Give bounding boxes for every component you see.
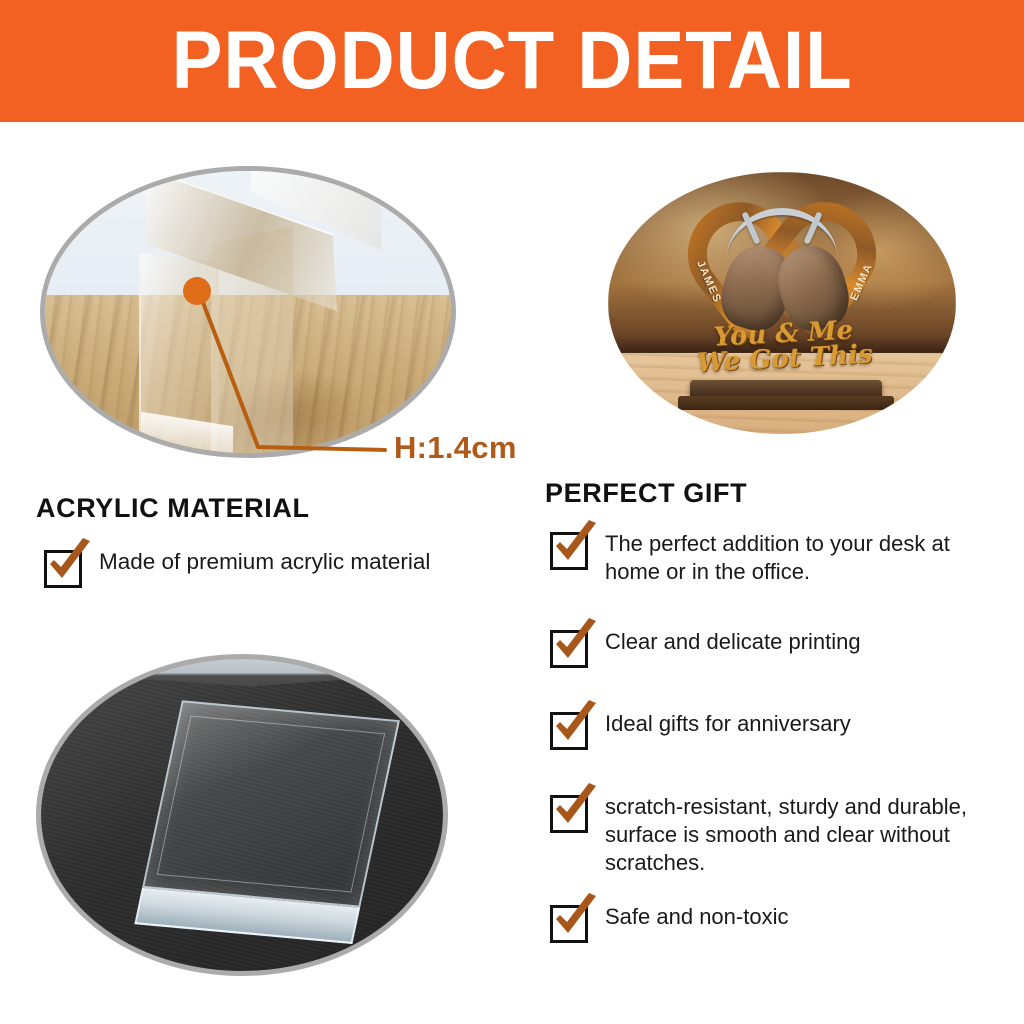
checkmark-icon xyxy=(549,519,603,573)
feature-text: Safe and non-toxic xyxy=(605,903,788,931)
photo-acrylic-slab-on-slate xyxy=(36,654,448,976)
feature-item-gift-2: Ideal gifts for anniversary xyxy=(550,710,851,750)
checkbox-checked-icon xyxy=(44,550,82,588)
heading-acrylic-material: ACRYLIC MATERIAL xyxy=(36,493,310,524)
checkmark-icon xyxy=(43,537,97,591)
checkmark-icon xyxy=(549,617,603,671)
sculpture-script-text: You & Me We Got This xyxy=(685,317,883,377)
feature-item-acrylic-0: Made of premium acrylic material xyxy=(44,548,430,588)
acrylic-slab xyxy=(142,700,400,907)
feature-item-gift-1: Clear and delicate printing xyxy=(550,628,861,668)
acrylic-slab-inner-reflection xyxy=(157,715,385,892)
header-banner: PRODUCT DETAIL xyxy=(0,0,1024,122)
feature-text: Ideal gifts for anniversary xyxy=(605,710,851,738)
feature-text: The perfect addition to your desk at hom… xyxy=(605,530,1005,586)
checkbox-checked-icon xyxy=(550,630,588,668)
checkbox-checked-icon xyxy=(550,532,588,570)
page-title: PRODUCT DETAIL xyxy=(172,20,853,102)
feature-item-gift-3: scratch-resistant, sturdy and durable, s… xyxy=(550,793,1005,877)
wooden-sculpture-base xyxy=(690,380,882,402)
checkmark-icon xyxy=(549,782,603,836)
heading-perfect-gift: PERFECT GIFT xyxy=(545,478,747,509)
feature-text: Clear and delicate printing xyxy=(605,628,861,656)
feature-item-gift-4: Safe and non-toxic xyxy=(550,903,788,943)
feature-text: Made of premium acrylic material xyxy=(99,548,430,577)
photo-acrylic-block-edge xyxy=(40,166,456,458)
checkbox-checked-icon xyxy=(550,905,588,943)
checkbox-checked-icon xyxy=(550,712,588,750)
feature-item-gift-0: The perfect addition to your desk at hom… xyxy=(550,530,1005,586)
checkmark-icon xyxy=(549,892,603,946)
photo-deer-couple-sculpture-content: JAMES EMMA You & Me We Got This xyxy=(608,172,956,434)
acrylic-slab-top-face xyxy=(142,700,400,907)
checkbox-checked-icon xyxy=(550,795,588,833)
checkmark-icon xyxy=(549,699,603,753)
photo-deer-couple-sculpture: JAMES EMMA You & Me We Got This xyxy=(608,172,956,434)
photo-acrylic-slab-content xyxy=(41,659,443,971)
feature-text: scratch-resistant, sturdy and durable, s… xyxy=(605,793,1005,877)
photo-acrylic-block-edge-content xyxy=(45,171,451,453)
